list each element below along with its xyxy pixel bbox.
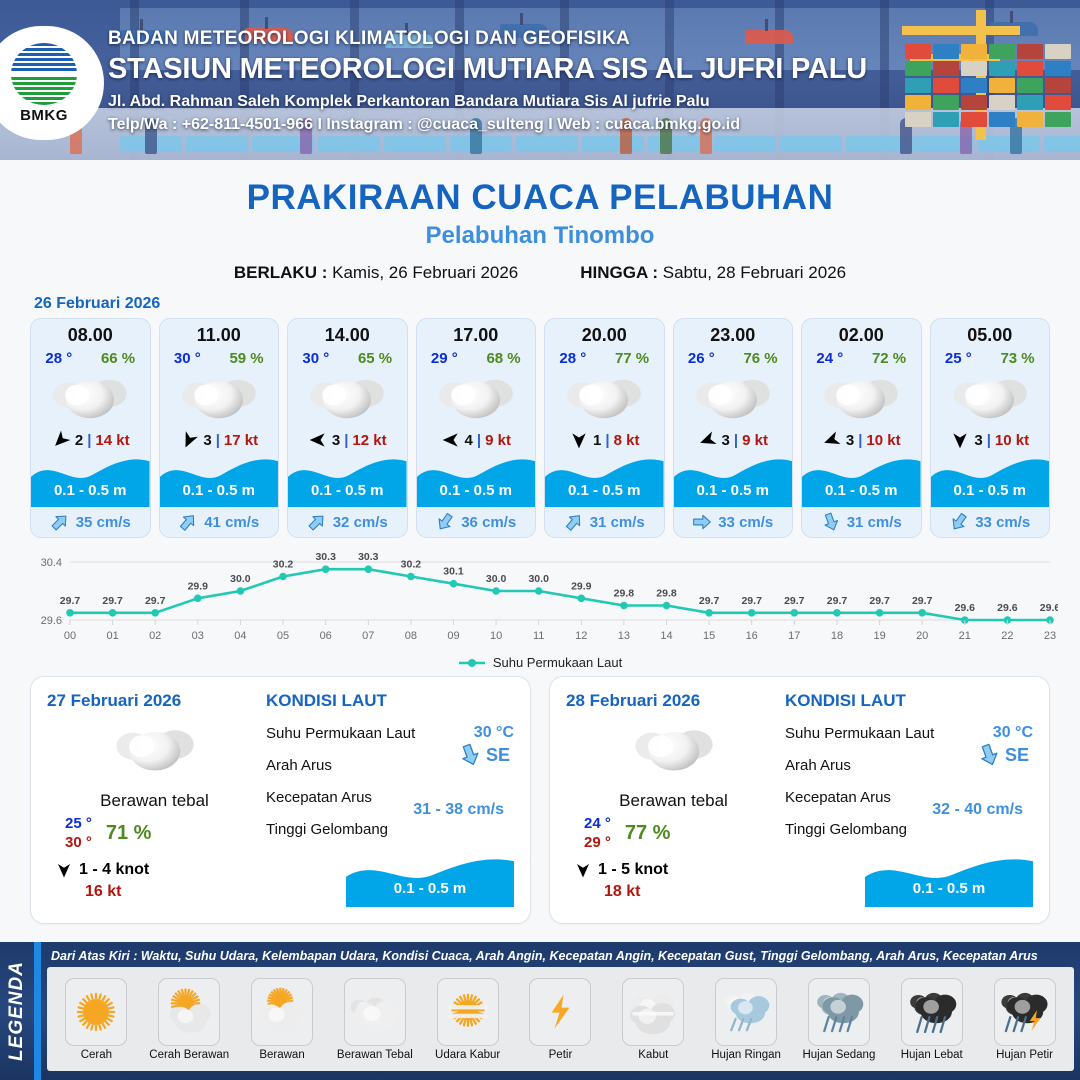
hourly-values: 24 ° 72 %	[802, 350, 921, 367]
sun-icon	[65, 978, 127, 1046]
hourly-current-speed: 35 cm/s	[76, 514, 131, 531]
cloud-shape	[693, 371, 773, 424]
hourly-time: 08.00	[31, 325, 150, 346]
cloud-shape	[950, 371, 1030, 424]
wind-direction-arrow-icon	[695, 427, 721, 453]
legend-item: Cerah Berawan	[145, 978, 233, 1061]
hourly-wind: 3 | 12 kt	[288, 427, 407, 453]
legend-item: Kabut	[609, 978, 697, 1061]
legend-item-label: Cerah	[81, 1049, 112, 1061]
hourly-values: 29 ° 68 %	[417, 350, 536, 367]
daily-wind-range: 1 - 5 knot	[598, 861, 668, 879]
daily-gust: 16 kt	[47, 883, 262, 901]
hourly-temperature: 28 °	[45, 350, 72, 367]
wave-height-shape	[931, 455, 1050, 507]
hourly-wind-separator: |	[344, 432, 348, 449]
cloud-shape	[179, 371, 259, 424]
legend-item-label: Hujan Lebat	[901, 1049, 963, 1061]
wave-height-shape	[31, 455, 150, 507]
hourly-gust: 17 kt	[224, 432, 258, 449]
wind-direction-arrow-icon	[569, 430, 589, 450]
daily-wind: 1 - 5 knot	[566, 861, 781, 879]
hourly-wave-block: 0.1 - 0.5 m	[545, 455, 664, 507]
hourly-current: 35 cm/s	[31, 507, 150, 537]
sea-row-label: Suhu Permukaan Laut	[785, 725, 993, 742]
legend-item-label: Berawan	[259, 1049, 304, 1061]
hourly-card: 20.00 28 ° 77 % 1 | 8 kt	[544, 318, 665, 538]
hourly-wind: 3 | 9 kt	[674, 427, 793, 453]
hourly-humidity: 68 %	[486, 350, 520, 367]
hourly-wind: 4 | 9 kt	[417, 427, 536, 453]
svg-text:03: 03	[192, 630, 204, 642]
svg-text:29.8: 29.8	[614, 588, 635, 600]
berawan-tebal-icon	[288, 369, 407, 425]
hourly-wave-block: 0.1 - 0.5 m	[160, 455, 279, 507]
svg-text:12: 12	[575, 630, 587, 642]
svg-text:29.9: 29.9	[571, 580, 592, 592]
cloud-shape	[632, 721, 716, 776]
legend-item-label: Berawan Tebal	[337, 1049, 413, 1061]
valid-from-label: BERLAKU :	[234, 263, 328, 282]
daily-gust: 18 kt	[566, 883, 781, 901]
hourly-wind-scale: 1	[593, 432, 601, 449]
svg-text:23: 23	[1044, 630, 1056, 642]
hourly-wave-height: 0.1 - 0.5 m	[802, 482, 921, 499]
hourly-card: 02.00 24 ° 72 % 3 | 10 kt	[801, 318, 922, 538]
station-address: Jl. Abd. Rahman Saleh Komplek Perkantora…	[108, 93, 867, 111]
svg-text:29.7: 29.7	[60, 595, 81, 607]
svg-text:00: 00	[64, 630, 76, 642]
sea-current-speed-value: 32 - 40 cm/s	[932, 801, 1023, 819]
hourly-time: 05.00	[931, 325, 1050, 346]
svg-text:29.6: 29.6	[997, 602, 1018, 614]
thunderstorm-icon	[994, 978, 1056, 1046]
hourly-wave-height: 0.1 - 0.5 m	[931, 482, 1050, 499]
berawan-tebal-icon	[160, 369, 279, 425]
sea-row-label: Tinggi Gelombang	[785, 821, 1033, 838]
hourly-wave-height: 0.1 - 0.5 m	[674, 482, 793, 499]
svg-text:22: 22	[1001, 630, 1013, 642]
page-title: PRAKIRAAN CUACA PELABUHAN	[0, 178, 1080, 218]
hourly-card: 14.00 30 ° 65 % 3 | 12 kt	[287, 318, 408, 538]
daily-panel: 27 Februari 2026 Berawan tebal 25 ° 30 °…	[30, 676, 531, 924]
hourly-card: 11.00 30 ° 59 % 3 | 17 kt	[159, 318, 280, 538]
hourly-gust: 14 kt	[95, 432, 129, 449]
hourly-humidity: 73 %	[1000, 350, 1034, 367]
page-subtitle: Pelabuhan Tinombo	[0, 222, 1080, 250]
cloud-shape	[50, 371, 130, 424]
wind-direction-arrow-icon	[55, 861, 73, 879]
hourly-current-speed: 41 cm/s	[204, 514, 259, 531]
svg-text:08: 08	[405, 630, 417, 642]
svg-text:29.7: 29.7	[869, 595, 890, 607]
legend-items: Cerah Cerah Berawan Berawan	[47, 967, 1074, 1071]
svg-text:30.4: 30.4	[41, 557, 62, 569]
wind-direction-arrow-icon	[176, 427, 203, 454]
svg-text:04: 04	[234, 630, 246, 642]
hourly-temperature: 24 °	[816, 350, 843, 367]
hourly-current: 41 cm/s	[160, 507, 279, 537]
svg-text:20: 20	[916, 630, 928, 642]
hourly-temperature: 26 °	[688, 350, 715, 367]
svg-text:30.3: 30.3	[315, 551, 336, 563]
daily-panel-left: 27 Februari 2026 Berawan tebal 25 ° 30 °…	[47, 691, 262, 909]
hourly-values: 30 ° 59 %	[160, 350, 279, 367]
hourly-wind-scale: 3	[974, 432, 982, 449]
light-rain-icon	[715, 978, 777, 1046]
cloud-sun-icon	[251, 978, 313, 1046]
sea-row-value: 30 °C	[993, 724, 1033, 742]
hourly-wave-block: 0.1 - 0.5 m	[802, 455, 921, 507]
moderate-rain-icon	[808, 978, 870, 1046]
legend-item-label: Hujan Sedang	[802, 1049, 875, 1061]
wind-direction-arrow-icon	[47, 426, 75, 454]
daily-wave-block: 0.1 - 0.5 m	[865, 855, 1033, 905]
daily-humidity: 77 %	[625, 822, 671, 845]
hourly-temperature: 30 °	[302, 350, 329, 367]
hourly-time: 11.00	[160, 325, 279, 346]
header-banner: BMKG BADAN METEOROLOGI KLIMATOLOGI DAN G…	[0, 0, 1080, 160]
svg-text:30.3: 30.3	[358, 551, 379, 563]
wind-direction-arrow-icon	[308, 430, 328, 450]
berawan-tebal-icon	[31, 369, 150, 425]
hourly-wave-block: 0.1 - 0.5 m	[31, 455, 150, 507]
hourly-current-speed: 33 cm/s	[975, 514, 1030, 531]
daily-panel-right: KONDISI LAUT Suhu Permukaan Laut 30 °C A…	[262, 691, 514, 909]
legend-item: Berawan	[238, 978, 326, 1061]
hourly-wave-height: 0.1 - 0.5 m	[417, 482, 536, 499]
wave-height-shape	[674, 455, 793, 507]
hourly-wave-height: 0.1 - 0.5 m	[31, 482, 150, 499]
daily-temp-max: 30 °	[65, 834, 92, 853]
sea-conditions-title: KONDISI LAUT	[266, 691, 514, 711]
daily-wind: 1 - 4 knot	[47, 861, 262, 879]
wave-height-shape	[288, 455, 407, 507]
daily-temp-max: 29 °	[584, 834, 611, 853]
berawan-tebal-icon	[47, 719, 262, 779]
legend-body: Dari Atas Kiri : Waktu, Suhu Udara, Kele…	[41, 942, 1080, 1080]
hourly-wave-block: 0.1 - 0.5 m	[674, 455, 793, 507]
svg-text:30.0: 30.0	[230, 573, 251, 585]
legend-item: Berawan Tebal	[331, 978, 419, 1061]
daily-temps: 25 ° 30 ° 71 %	[47, 815, 262, 853]
hourly-wind-scale: 3	[722, 432, 730, 449]
haze-sun-icon	[437, 978, 499, 1046]
hourly-wind-separator: |	[987, 432, 991, 449]
hourly-time: 14.00	[288, 325, 407, 346]
svg-text:29.9: 29.9	[188, 580, 209, 592]
legend-item-label: Petir	[549, 1049, 573, 1061]
legend-note: Dari Atas Kiri : Waktu, Suhu Udara, Kele…	[47, 946, 1074, 967]
station-name: STASIUN METEOROLOGI MUTIARA SIS AL JUFRI…	[108, 53, 867, 86]
hourly-humidity: 76 %	[743, 350, 777, 367]
wind-direction-arrow-icon	[574, 861, 592, 879]
hourly-wind-separator: |	[87, 432, 91, 449]
hourly-time: 02.00	[802, 325, 921, 346]
legend-item-label: Hujan Ringan	[711, 1049, 781, 1061]
wave-height-shape	[417, 455, 536, 507]
hourly-wind-separator: |	[858, 432, 862, 449]
berawan-tebal-icon	[931, 369, 1050, 425]
wave-height-shape	[802, 455, 921, 507]
hourly-current: 33 cm/s	[931, 507, 1050, 537]
hourly-temperature: 29 °	[431, 350, 458, 367]
hourly-card: 17.00 29 ° 68 % 4 | 9 kt	[416, 318, 537, 538]
hourly-wind: 3 | 17 kt	[160, 427, 279, 453]
svg-text:13: 13	[618, 630, 630, 642]
daily-panel: 28 Februari 2026 Berawan tebal 24 ° 29 °…	[549, 676, 1050, 924]
chart-legend-marker-icon	[458, 657, 486, 669]
org-line: BADAN METEOROLOGI KLIMATOLOGI DAN GEOFIS…	[108, 28, 867, 50]
current-direction-arrow-icon	[174, 508, 202, 536]
svg-text:29.8: 29.8	[656, 588, 677, 600]
legend-item: Hujan Sedang	[795, 978, 883, 1061]
hourly-current-speed: 36 cm/s	[461, 514, 516, 531]
hourly-temperature: 25 °	[945, 350, 972, 367]
berawan-tebal-icon	[417, 369, 536, 425]
legend-item: Petir	[516, 978, 604, 1061]
svg-text:09: 09	[447, 630, 459, 642]
banner-containers	[905, 44, 1075, 130]
svg-text:29.7: 29.7	[784, 595, 805, 607]
current-direction-arrow-icon	[455, 740, 486, 771]
svg-text:30.0: 30.0	[528, 573, 549, 585]
svg-text:30.2: 30.2	[401, 559, 422, 571]
svg-text:11: 11	[533, 630, 544, 642]
hourly-humidity: 72 %	[872, 350, 906, 367]
bmkg-logo-text: BMKG	[20, 107, 68, 124]
svg-text:06: 06	[320, 630, 332, 642]
hourly-card: 05.00 25 ° 73 % 3 | 10 kt	[930, 318, 1051, 538]
heavy-cloud-icon	[344, 978, 406, 1046]
svg-text:05: 05	[277, 630, 289, 642]
svg-text:07: 07	[362, 630, 374, 642]
sea-current-direction-value: SE	[458, 743, 510, 767]
hourly-wind-scale: 4	[465, 432, 473, 449]
daily-condition: Berawan tebal	[566, 791, 781, 811]
legend-side-label: LEGENDA	[0, 942, 34, 1080]
hourly-current: 31 cm/s	[802, 507, 921, 537]
hourly-current: 36 cm/s	[417, 507, 536, 537]
svg-text:14: 14	[660, 630, 672, 642]
hourly-wave-block: 0.1 - 0.5 m	[931, 455, 1050, 507]
wind-direction-arrow-icon	[441, 430, 461, 450]
hourly-wave-block: 0.1 - 0.5 m	[417, 455, 536, 507]
hourly-values: 25 ° 73 %	[931, 350, 1050, 367]
hourly-humidity: 65 %	[358, 350, 392, 367]
sea-conditions-title: KONDISI LAUT	[785, 691, 1033, 711]
sea-current-direction-value: SE	[977, 743, 1029, 767]
hourly-wind-separator: |	[216, 432, 220, 449]
cloud-shape	[113, 721, 197, 776]
current-direction-arrow-icon	[560, 508, 588, 536]
legend-item: Hujan Petir	[981, 978, 1069, 1061]
hourly-card: 23.00 26 ° 76 % 3 | 9 kt	[673, 318, 794, 538]
svg-text:02: 02	[149, 630, 161, 642]
valid-from-value: Kamis, 26 Februari 2026	[332, 263, 518, 282]
heavy-rain-icon	[901, 978, 963, 1046]
legend-bar: LEGENDA Dari Atas Kiri : Waktu, Suhu Uda…	[0, 942, 1080, 1080]
valid-to-label: HINGGA :	[580, 263, 658, 282]
berawan-tebal-icon	[566, 719, 781, 779]
daily-wave-height: 0.1 - 0.5 m	[865, 880, 1033, 897]
hourly-current-speed: 31 cm/s	[847, 514, 902, 531]
hourly-wave-height: 0.1 - 0.5 m	[545, 482, 664, 499]
daily-temp-column: 24 ° 29 °	[584, 815, 611, 853]
hourly-day-label: 26 Februari 2026	[34, 295, 1080, 313]
sea-current-direction-text: SE	[1005, 745, 1029, 766]
daily-temps: 24 ° 29 ° 77 %	[566, 815, 781, 853]
hourly-current: 32 cm/s	[288, 507, 407, 537]
hourly-wave-height: 0.1 - 0.5 m	[288, 482, 407, 499]
legend-item-label: Kabut	[638, 1049, 668, 1061]
legend-accent-stripe	[34, 942, 41, 1080]
daily-panel-left: 28 Februari 2026 Berawan tebal 24 ° 29 °…	[566, 691, 781, 909]
chart-legend-label: Suhu Permukaan Laut	[493, 655, 622, 670]
hourly-time: 23.00	[674, 325, 793, 346]
daily-condition: Berawan tebal	[47, 791, 262, 811]
hourly-current-speed: 33 cm/s	[718, 514, 773, 531]
hourly-gust: 8 kt	[614, 432, 640, 449]
berawan-tebal-icon	[802, 369, 921, 425]
svg-text:01: 01	[106, 630, 118, 642]
hourly-wind-separator: |	[734, 432, 738, 449]
daily-temp-min: 24 °	[584, 815, 611, 834]
current-direction-arrow-icon	[431, 508, 459, 536]
current-direction-arrow-icon	[692, 512, 712, 532]
hourly-temperature: 28 °	[559, 350, 586, 367]
hourly-humidity: 77 %	[615, 350, 649, 367]
valid-from: BERLAKU : Kamis, 26 Februari 2026	[234, 263, 518, 283]
hourly-values: 28 ° 77 %	[545, 350, 664, 367]
current-direction-arrow-icon	[303, 508, 331, 536]
cloud-shape	[821, 371, 901, 424]
validity-row: BERLAKU : Kamis, 26 Februari 2026 HINGGA…	[0, 263, 1080, 283]
hourly-gust: 9 kt	[742, 432, 768, 449]
daily-temp-column: 25 ° 30 °	[65, 815, 92, 853]
hourly-wave-block: 0.1 - 0.5 m	[288, 455, 407, 507]
daily-wave-height: 0.1 - 0.5 m	[346, 880, 514, 897]
fog-icon	[622, 978, 684, 1046]
wind-direction-arrow-icon	[950, 430, 970, 450]
svg-text:29.6: 29.6	[955, 602, 976, 614]
hourly-wind-separator: |	[477, 432, 481, 449]
valid-to-value: Sabtu, 28 Februari 2026	[663, 263, 846, 282]
hourly-current-speed: 31 cm/s	[590, 514, 645, 531]
hourly-values: 28 ° 66 %	[31, 350, 150, 367]
hourly-wind-scale: 3	[846, 432, 854, 449]
daily-panels: 27 Februari 2026 Berawan tebal 25 ° 30 °…	[0, 670, 1080, 924]
bmkg-emblem-icon	[11, 43, 77, 105]
hourly-wind-scale: 2	[75, 432, 83, 449]
cloud-shape	[307, 371, 387, 424]
current-direction-arrow-icon	[46, 508, 74, 536]
legend-item-label: Hujan Petir	[996, 1049, 1053, 1061]
svg-text:16: 16	[746, 630, 758, 642]
daily-humidity: 71 %	[106, 822, 152, 845]
svg-text:30.2: 30.2	[273, 559, 294, 571]
legend-item: Hujan Lebat	[888, 978, 976, 1061]
berawan-tebal-icon	[674, 369, 793, 425]
chart-legend: Suhu Permukaan Laut	[0, 655, 1080, 670]
current-direction-arrow-icon	[818, 509, 844, 535]
svg-text:19: 19	[873, 630, 885, 642]
hourly-current-speed: 32 cm/s	[333, 514, 388, 531]
hourly-current: 31 cm/s	[545, 507, 664, 537]
legend-item: Hujan Ringan	[702, 978, 790, 1061]
hourly-wind: 3 | 10 kt	[802, 427, 921, 453]
hourly-gust: 10 kt	[866, 432, 900, 449]
hourly-humidity: 59 %	[229, 350, 263, 367]
hourly-current: 33 cm/s	[674, 507, 793, 537]
sea-row-label: Suhu Permukaan Laut	[266, 725, 474, 742]
hourly-time: 20.00	[545, 325, 664, 346]
svg-text:29.6: 29.6	[1040, 602, 1058, 614]
daily-date: 27 Februari 2026	[47, 691, 262, 711]
hourly-wind-separator: |	[605, 432, 609, 449]
svg-text:29.7: 29.7	[102, 595, 123, 607]
sst-chart-svg: 29.630.429.70029.70129.70229.90330.00430…	[22, 548, 1058, 653]
svg-text:15: 15	[703, 630, 715, 642]
svg-text:17: 17	[788, 630, 800, 642]
cloud-shape	[436, 371, 516, 424]
sea-row-value: 30 °C	[474, 724, 514, 742]
wave-height-shape	[160, 455, 279, 507]
hourly-wind: 2 | 14 kt	[31, 427, 150, 453]
hourly-gust: 12 kt	[352, 432, 386, 449]
svg-text:30.1: 30.1	[443, 566, 464, 578]
daily-temp-min: 25 °	[65, 815, 92, 834]
berawan-tebal-icon	[545, 369, 664, 425]
svg-text:10: 10	[490, 630, 502, 642]
hourly-gust: 10 kt	[995, 432, 1029, 449]
svg-text:21: 21	[959, 630, 971, 642]
hourly-wave-height: 0.1 - 0.5 m	[160, 482, 279, 499]
svg-text:18: 18	[831, 630, 843, 642]
current-direction-arrow-icon	[945, 508, 973, 536]
valid-to: HINGGA : Sabtu, 28 Februari 2026	[580, 263, 846, 283]
svg-text:30.0: 30.0	[486, 573, 507, 585]
hourly-wind-scale: 3	[203, 432, 211, 449]
daily-wave-block: 0.1 - 0.5 m	[346, 855, 514, 905]
svg-text:29.7: 29.7	[827, 595, 848, 607]
svg-text:29.7: 29.7	[699, 595, 720, 607]
sea-current-direction-text: SE	[486, 745, 510, 766]
wave-height-shape	[545, 455, 664, 507]
current-direction-arrow-icon	[974, 740, 1005, 771]
daily-panel-right: KONDISI LAUT Suhu Permukaan Laut 30 °C A…	[781, 691, 1033, 909]
banner-text-block: BADAN METEOROLOGI KLIMATOLOGI DAN GEOFIS…	[108, 28, 867, 134]
sea-current-speed-value: 31 - 38 cm/s	[413, 801, 504, 819]
hourly-gust: 9 kt	[485, 432, 511, 449]
hourly-values: 26 ° 76 %	[674, 350, 793, 367]
cloud-shape	[564, 371, 644, 424]
lightning-icon	[529, 978, 591, 1046]
legend-item-label: Cerah Berawan	[149, 1049, 229, 1061]
daily-date: 28 Februari 2026	[566, 691, 781, 711]
hourly-forecast-row: 08.00 28 ° 66 % 2 | 14 kt	[0, 318, 1080, 538]
sst-chart: 29.630.429.70029.70129.70229.90330.00430…	[22, 548, 1058, 653]
svg-text:29.6: 29.6	[41, 615, 62, 627]
hourly-wind-scale: 3	[332, 432, 340, 449]
legend-item: Cerah	[52, 978, 140, 1061]
sun-cloud-icon	[158, 978, 220, 1046]
legend-item-label: Udara Kabur	[435, 1049, 500, 1061]
svg-text:29.7: 29.7	[741, 595, 762, 607]
hourly-humidity: 66 %	[101, 350, 135, 367]
hourly-wind: 1 | 8 kt	[545, 427, 664, 453]
hourly-values: 30 ° 65 %	[288, 350, 407, 367]
